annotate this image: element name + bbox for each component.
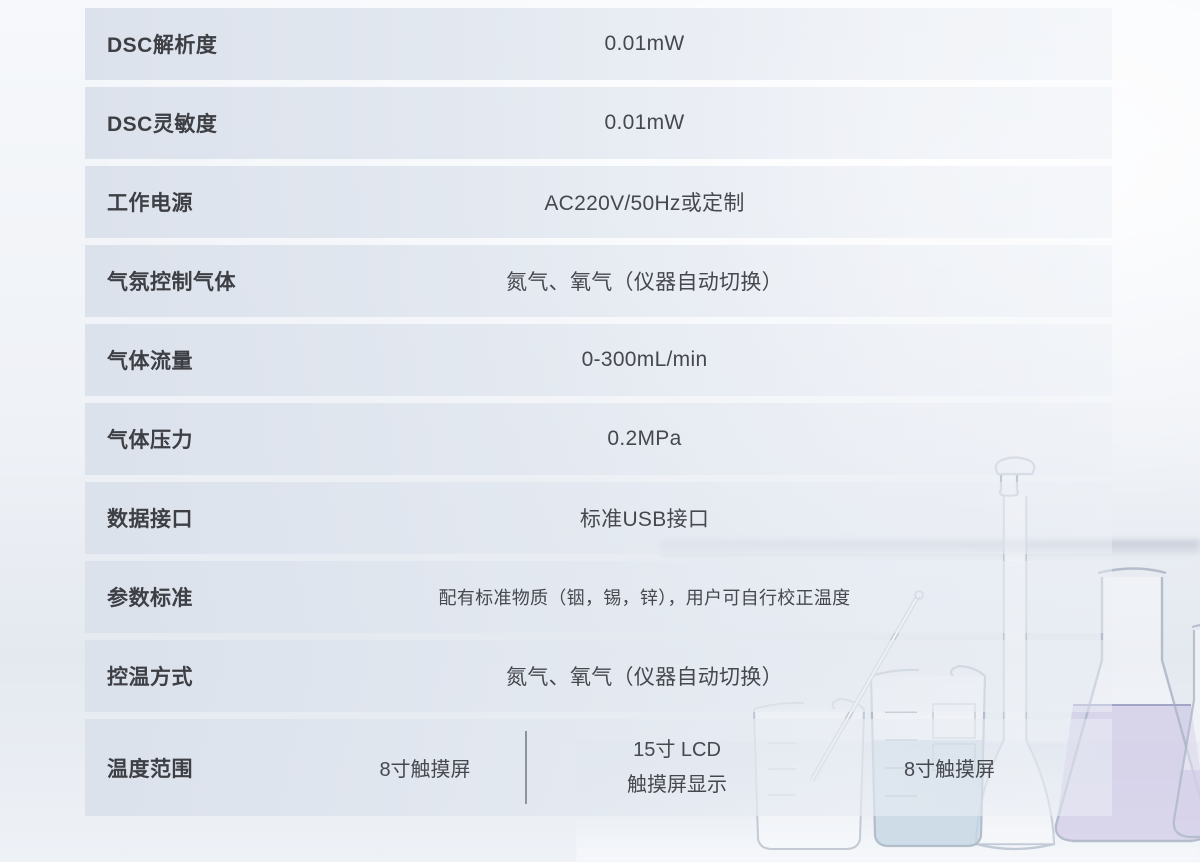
spec-label: 气氛控制气体 (85, 266, 357, 296)
spec-value: 配有标准物质（铟，锡，锌），用户可自行校正温度 (357, 584, 1112, 610)
spec-label: 控温方式 (85, 661, 357, 691)
spec-label: 数据接口 (85, 503, 357, 533)
specification-table: DSC解析度 0.01mW DSC灵敏度 0.01mW 工作电源 AC220V/… (85, 8, 1112, 823)
spec-label: 温度范围 (85, 719, 325, 816)
display-option-center: 15寸 LCD 触摸屏显示 (527, 719, 827, 816)
display-option-center-line2: 触摸屏显示 (627, 768, 727, 803)
spec-label: 气体压力 (85, 424, 357, 454)
display-option-right: 8寸触摸屏 (827, 719, 1112, 816)
spec-value: 0.01mW (357, 111, 1112, 135)
spec-label: 工作电源 (85, 187, 357, 217)
spec-label: DSC解析度 (85, 29, 357, 59)
table-row: DSC解析度 0.01mW (85, 8, 1112, 80)
display-option-center-line1: 15寸 LCD (633, 733, 721, 768)
spec-label: 气体流量 (85, 345, 357, 375)
display-option-left: 8寸触摸屏 (325, 719, 525, 816)
spec-value: 0.01mW (357, 32, 1112, 56)
table-row: 气体流量 0-300mL/min (85, 324, 1112, 396)
spec-value: 标准USB接口 (357, 503, 1112, 533)
table-row: 控温方式 氮气、氧气（仪器自动切换） (85, 640, 1112, 712)
spec-value: 氮气、氧气（仪器自动切换） (357, 266, 1112, 296)
spec-label: 参数标准 (85, 582, 357, 612)
spec-value: 0-300mL/min (357, 348, 1112, 372)
table-row: 气体压力 0.2MPa (85, 403, 1112, 475)
spec-label: DSC灵敏度 (85, 108, 357, 138)
table-row: 工作电源 AC220V/50Hz或定制 (85, 166, 1112, 238)
table-row-display-options: 温度范围 8寸触摸屏 15寸 LCD 触摸屏显示 8寸触摸屏 (85, 719, 1112, 816)
table-row: 气氛控制气体 氮气、氧气（仪器自动切换） (85, 245, 1112, 317)
small-flask-glassware (1168, 620, 1200, 862)
table-row: DSC灵敏度 0.01mW (85, 87, 1112, 159)
table-row: 参数标准 配有标准物质（铟，锡，锌），用户可自行校正温度 (85, 561, 1112, 633)
spec-value: 氮气、氧气（仪器自动切换） (357, 661, 1112, 691)
spec-value: 0.2MPa (357, 427, 1112, 451)
spec-value: AC220V/50Hz或定制 (357, 187, 1112, 217)
table-row: 数据接口 标准USB接口 (85, 482, 1112, 554)
